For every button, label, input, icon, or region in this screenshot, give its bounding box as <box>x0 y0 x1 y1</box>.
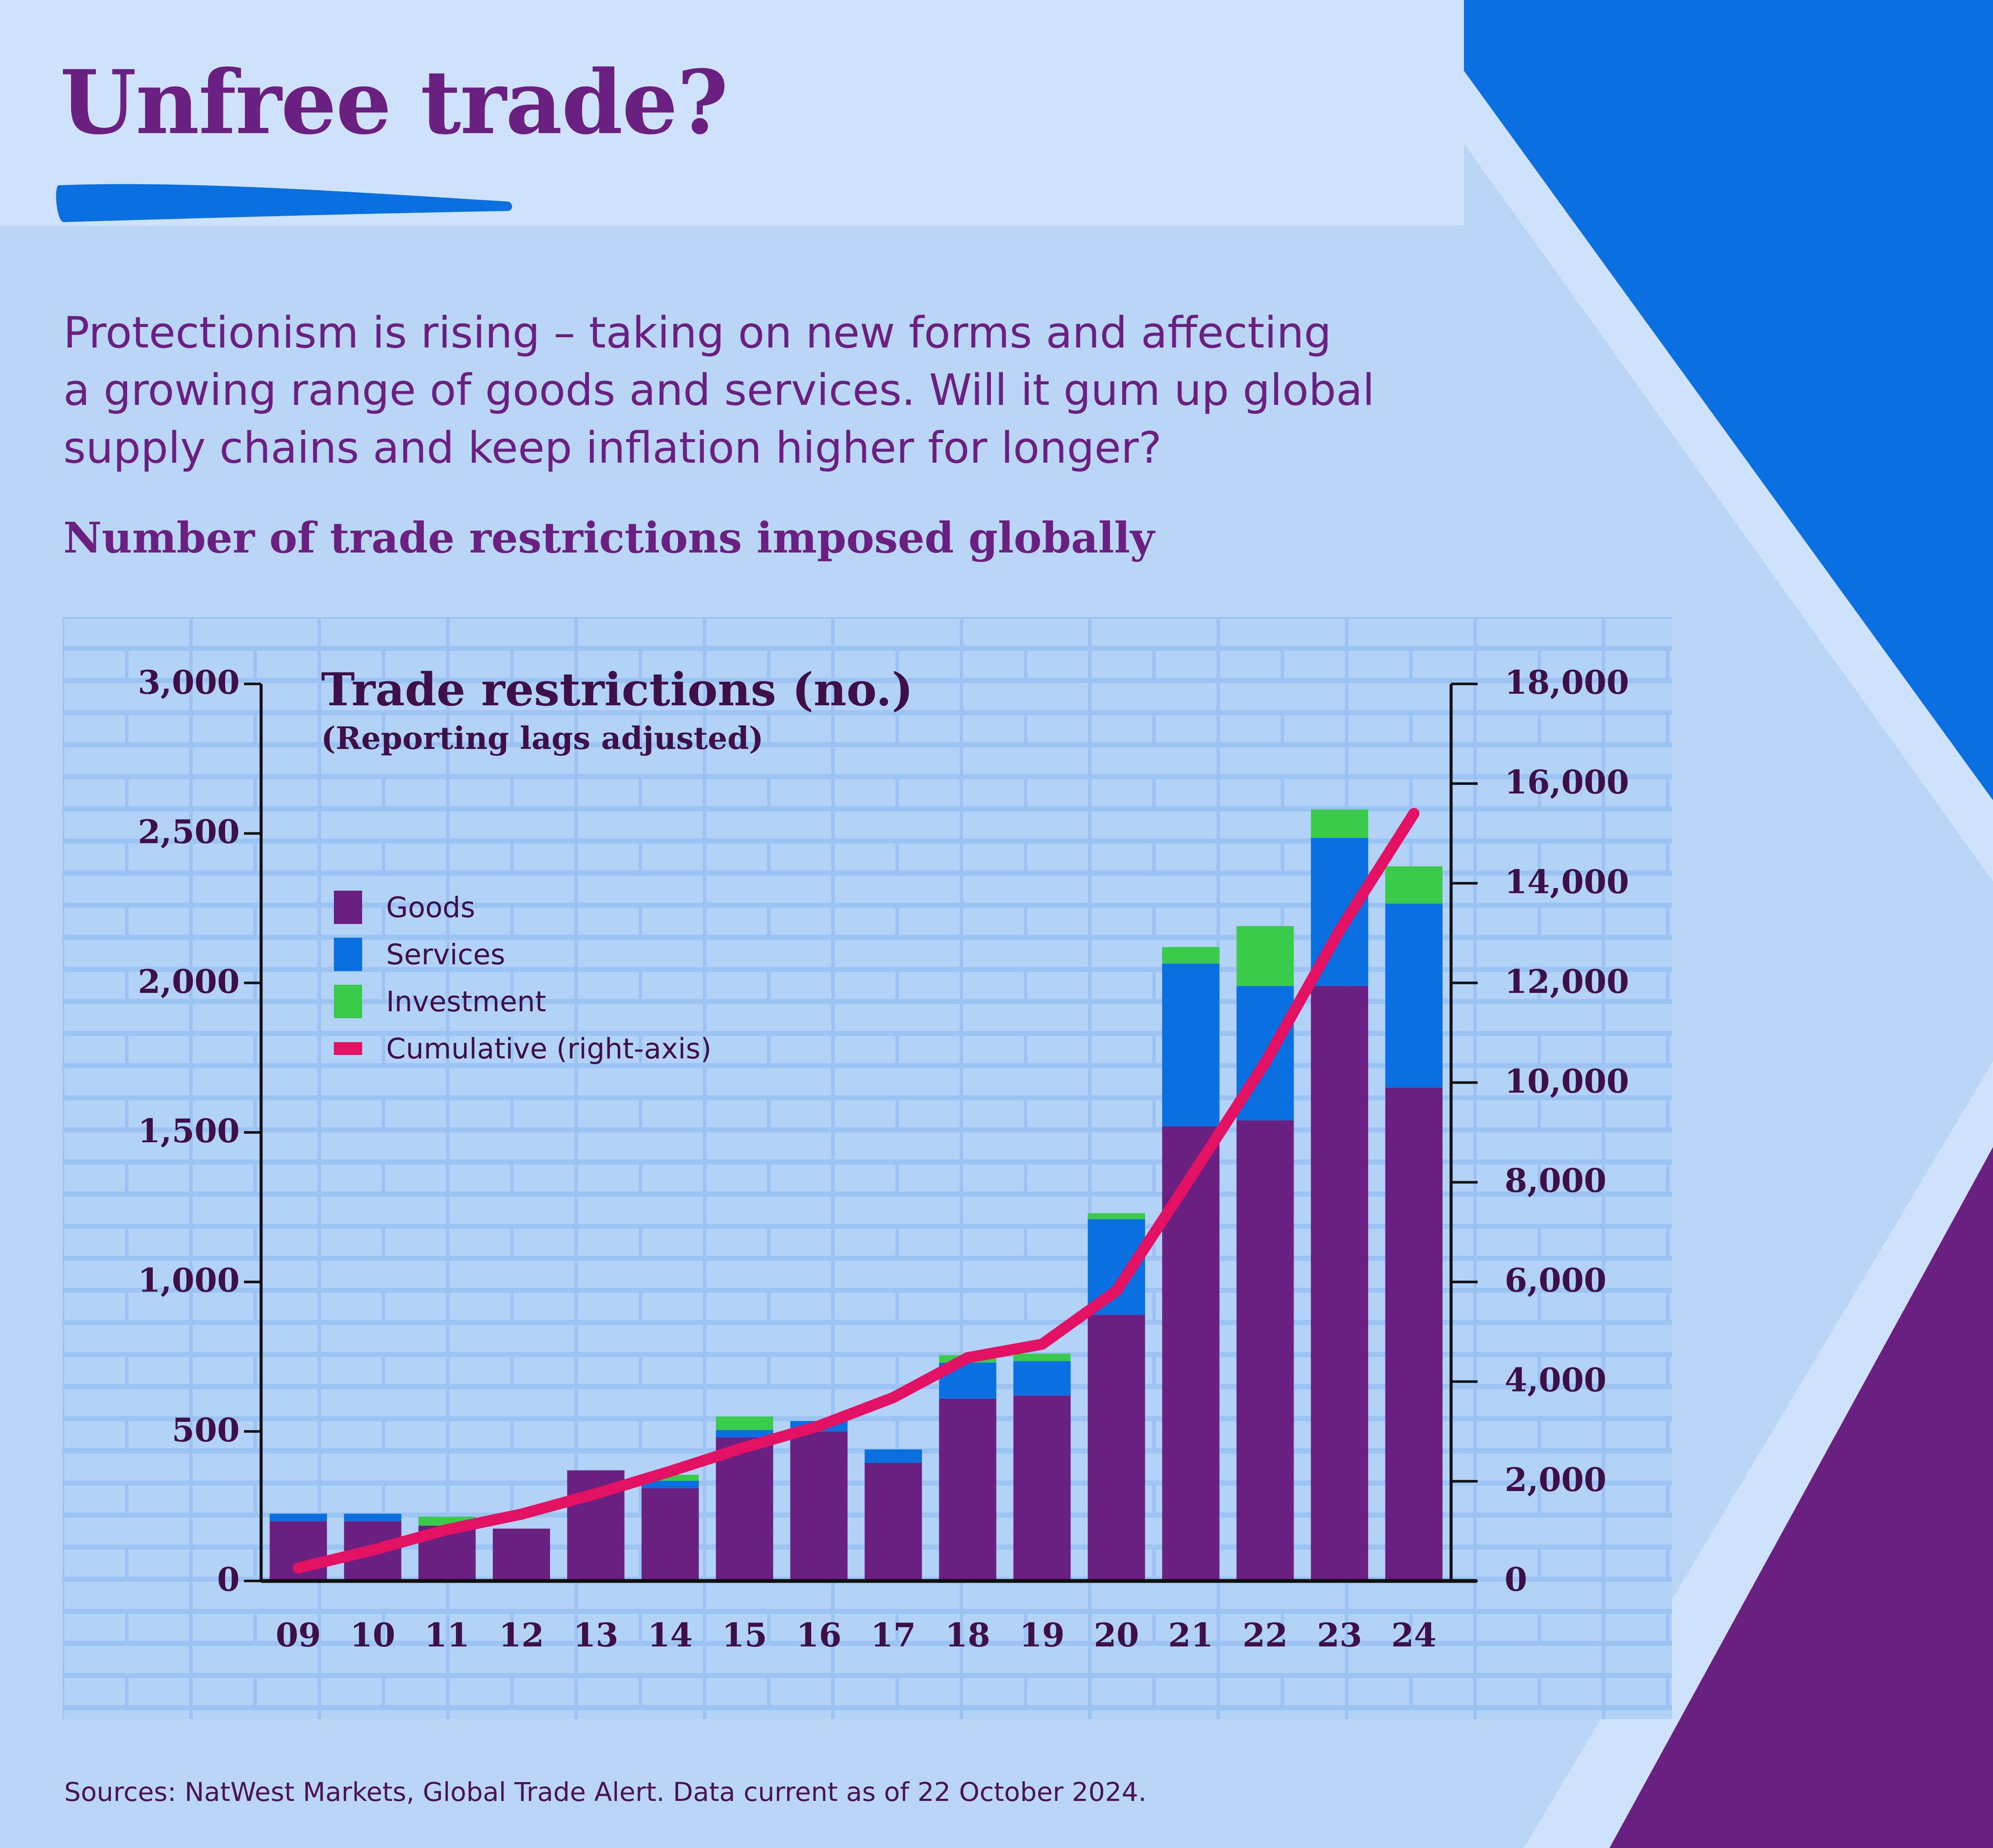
right-axis-tick-label: 18,000 <box>1505 663 1629 701</box>
legend-label-investment: Investment <box>386 985 546 1018</box>
legend-item-cumulative[interactable]: Cumulative (right-axis) <box>334 1025 711 1072</box>
x-axis-tick-label: 10 <box>347 1616 399 1654</box>
x-axis-tick-label: 17 <box>868 1616 919 1654</box>
page-title: Unfree trade? <box>60 51 728 154</box>
x-axis-tick-label: 12 <box>496 1616 547 1654</box>
x-axis-tick-label: 22 <box>1240 1616 1291 1654</box>
legend-swatch-goods <box>334 891 362 924</box>
x-axis-tick-label: 21 <box>1165 1616 1217 1654</box>
right-axis-tick-label: 10,000 <box>1505 1062 1629 1100</box>
legend-swatch-services <box>334 938 362 971</box>
chart-title: Trade restrictions (no.) <box>321 663 913 716</box>
right-axis-tick-label: 12,000 <box>1505 963 1629 1001</box>
left-axis-tick-label: 500 <box>60 1411 240 1449</box>
x-axis-tick-label: 11 <box>421 1616 473 1654</box>
x-axis-tick-label: 19 <box>1016 1616 1068 1654</box>
intro-line-1: Protectionism is rising – taking on new … <box>63 304 1433 361</box>
x-axis-tick-label: 14 <box>645 1616 696 1654</box>
right-axis-tick-label: 14,000 <box>1505 863 1629 901</box>
legend-swatch-investment <box>334 985 362 1018</box>
left-axis-tick-label: 1,500 <box>60 1112 240 1150</box>
chart-subtitle: (Reporting lags adjusted) <box>321 720 764 756</box>
intro-line-3: supply chains and keep inflation higher … <box>63 419 1433 476</box>
chart-legend: Goods Services Investment Cumulative (ri… <box>334 884 711 1072</box>
x-axis-tick-label: 20 <box>1091 1616 1142 1654</box>
left-axis-tick-label: 2,500 <box>60 813 240 851</box>
x-axis-tick-label: 18 <box>942 1616 994 1654</box>
right-axis-tick-label: 4,000 <box>1505 1361 1606 1399</box>
intro-paragraph: Protectionism is rising – taking on new … <box>63 304 1433 476</box>
legend-item-services[interactable]: Services <box>334 931 711 978</box>
chart-subheading: Number of trade restrictions imposed glo… <box>63 514 1154 563</box>
left-axis-tick-label: 1,000 <box>60 1261 240 1299</box>
right-axis-tick-label: 2,000 <box>1505 1461 1606 1499</box>
right-axis-tick-label: 0 <box>1505 1560 1527 1598</box>
x-axis-tick-label: 15 <box>719 1616 770 1654</box>
chart-panel <box>62 617 1672 1719</box>
left-axis-tick-label: 3,000 <box>60 663 240 701</box>
intro-line-2: a growing range of goods and services. W… <box>63 361 1433 419</box>
legend-swatch-cumulative <box>334 1042 362 1055</box>
legend-label-goods: Goods <box>386 891 475 924</box>
legend-label-cumulative: Cumulative (right-axis) <box>386 1032 711 1065</box>
sources-note: Sources: NatWest Markets, Global Trade A… <box>64 1777 1147 1807</box>
right-axis-tick-label: 6,000 <box>1505 1261 1606 1299</box>
brick-wall-pattern <box>62 617 1672 1719</box>
x-axis-tick-label: 09 <box>273 1616 324 1654</box>
x-axis-tick-label: 23 <box>1314 1616 1365 1654</box>
legend-item-goods[interactable]: Goods <box>334 884 711 931</box>
legend-label-services: Services <box>386 938 505 971</box>
x-axis-tick-label: 13 <box>570 1616 622 1654</box>
left-axis-tick-label: 0 <box>60 1560 240 1598</box>
left-axis-tick-label: 2,000 <box>60 963 240 1001</box>
x-axis-tick-label: 24 <box>1388 1616 1440 1654</box>
title-underline-swoosh <box>55 178 526 229</box>
right-axis-tick-label: 16,000 <box>1505 763 1629 801</box>
x-axis-tick-label: 16 <box>793 1616 845 1654</box>
legend-item-investment[interactable]: Investment <box>334 978 711 1025</box>
right-axis-tick-label: 8,000 <box>1505 1162 1606 1200</box>
